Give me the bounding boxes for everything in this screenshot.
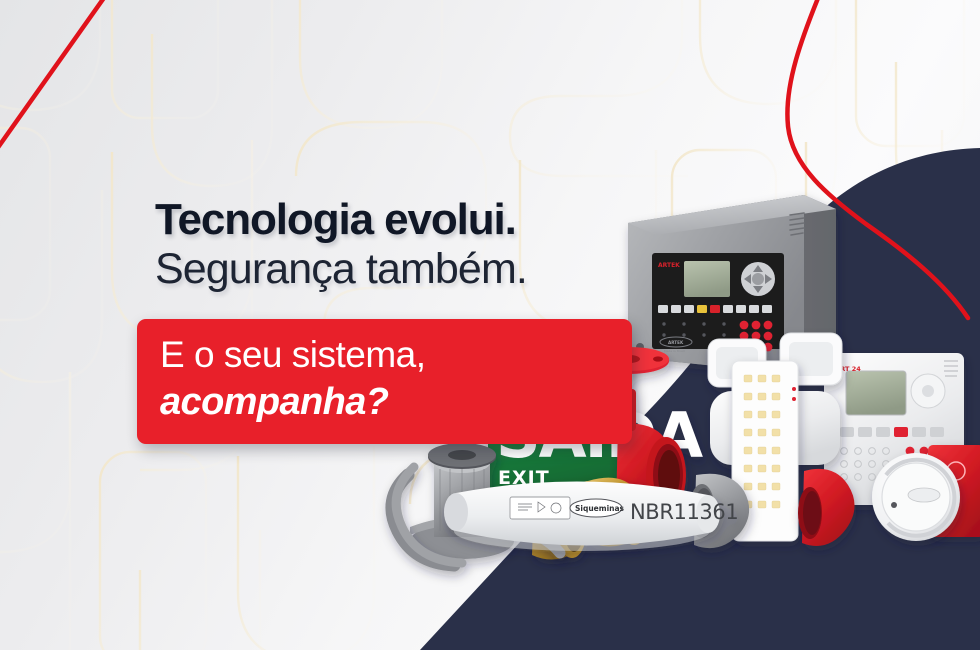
smoke-detector — [872, 453, 960, 541]
panel-footer-text: Made in Brazil — [664, 349, 685, 353]
svg-text:ARTEK: ARTEK — [668, 340, 684, 345]
headline-block: Tecnologia evolui. Segurança também. — [155, 196, 675, 295]
headline-secondary: Segurança também. — [155, 245, 675, 294]
hose-label-text: NBR11361 — [630, 500, 738, 524]
cta-question-line-1: E o seu sistema, — [160, 333, 618, 377]
cta-red-box[interactable]: E o seu sistema, acompanha? — [137, 319, 632, 444]
hose-brand-text: Siqueminas — [575, 504, 625, 513]
promo-banner: ARTEK — [0, 0, 980, 650]
headline-primary: Tecnologia evolui. — [155, 196, 675, 243]
cta-question-line-2: acompanha? — [160, 380, 618, 426]
